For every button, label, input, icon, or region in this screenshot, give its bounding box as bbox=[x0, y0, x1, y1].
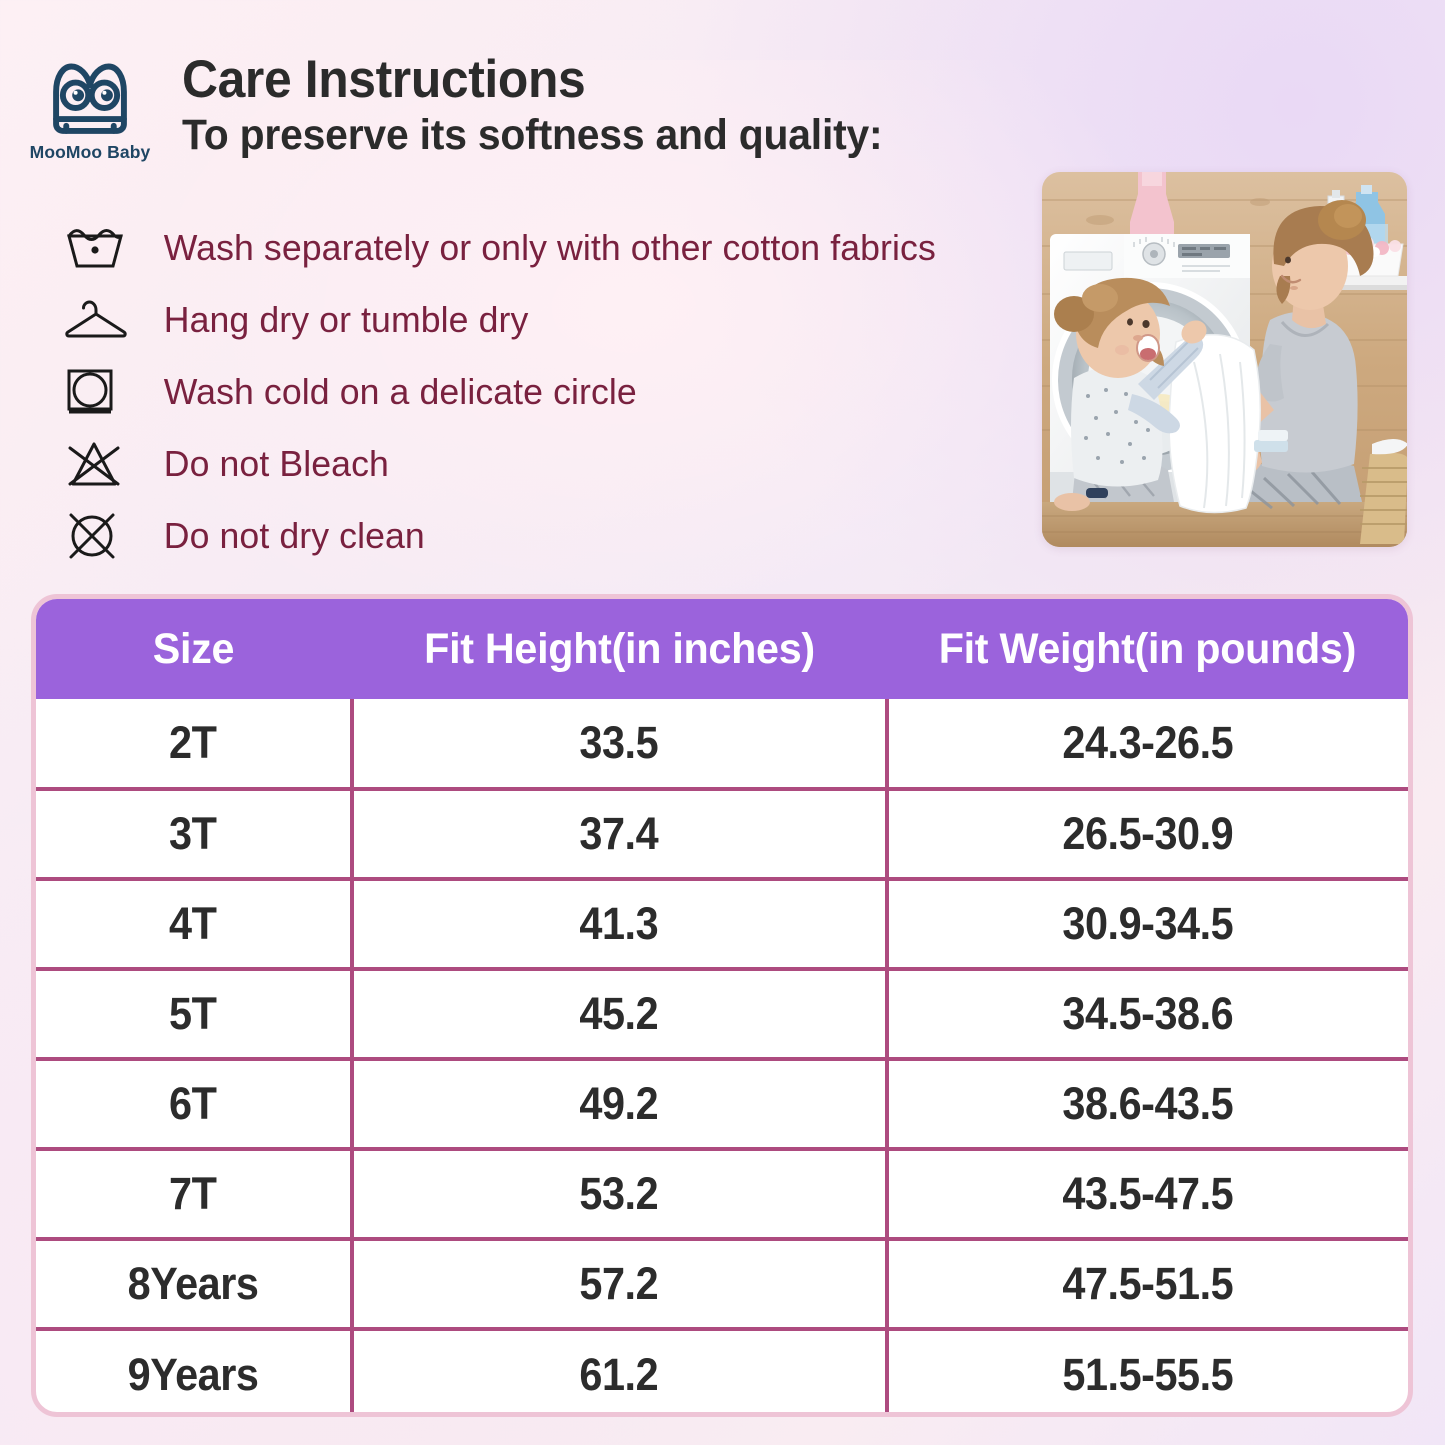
laundry-photo bbox=[1042, 172, 1407, 547]
cell-weight: 26.5-30.9 bbox=[887, 789, 1408, 879]
table-row: 2T 33.5 24.3-26.5 bbox=[36, 699, 1408, 789]
care-item-label: Do not dry clean bbox=[138, 516, 425, 556]
table-header-row: Size Fit Height(in inches) Fit Weight(in… bbox=[36, 599, 1408, 699]
cell-size: 4T bbox=[36, 879, 352, 969]
cell-size: 5T bbox=[36, 969, 352, 1059]
table-row: 5T 45.2 34.5-38.6 bbox=[36, 969, 1408, 1059]
do-not-dry-clean-icon bbox=[60, 508, 138, 564]
table-row: 7T 53.2 43.5-47.5 bbox=[36, 1149, 1408, 1239]
brand-logo: MooMoo Baby bbox=[26, 52, 154, 163]
cell-size: 7T bbox=[36, 1149, 352, 1239]
title-block: Care Instructions To preserve its softne… bbox=[154, 52, 919, 160]
table-row: 9Years 61.2 51.5-55.5 bbox=[36, 1329, 1408, 1417]
care-instructions-list: Wash separately or only with other cotto… bbox=[60, 212, 1050, 572]
cell-height: 49.2 bbox=[352, 1059, 887, 1149]
care-item-label: Hang dry or tumble dry bbox=[138, 300, 528, 340]
table-body: 2T 33.5 24.3-26.5 3T 37.4 26.5-30.9 4T 4… bbox=[36, 699, 1408, 1417]
cell-height: 53.2 bbox=[352, 1149, 887, 1239]
cell-size: 8Years bbox=[36, 1239, 352, 1329]
table-row: 3T 37.4 26.5-30.9 bbox=[36, 789, 1408, 879]
cell-height: 57.2 bbox=[352, 1239, 887, 1329]
cell-height: 37.4 bbox=[352, 789, 887, 879]
table-row: 6T 49.2 38.6-43.5 bbox=[36, 1059, 1408, 1149]
hanger-icon bbox=[60, 292, 138, 348]
cell-size: 9Years bbox=[36, 1329, 352, 1417]
page-title: Care Instructions bbox=[182, 52, 875, 108]
wash-basin-icon bbox=[60, 220, 138, 276]
tumble-dry-icon bbox=[60, 364, 138, 420]
care-item-label: Do not Bleach bbox=[138, 444, 389, 484]
care-item: Hang dry or tumble dry bbox=[60, 284, 1050, 356]
column-header-fit-weight: Fit Weight(in pounds) bbox=[887, 599, 1408, 699]
cell-size: 2T bbox=[36, 699, 352, 789]
column-header-fit-height: Fit Height(in inches) bbox=[352, 599, 887, 699]
cell-weight: 43.5-47.5 bbox=[887, 1149, 1408, 1239]
cell-height: 41.3 bbox=[352, 879, 887, 969]
cell-weight: 51.5-55.5 bbox=[887, 1329, 1408, 1417]
care-item: Do not dry clean bbox=[60, 500, 1050, 572]
size-chart-table: Size Fit Height(in inches) Fit Weight(in… bbox=[31, 594, 1413, 1417]
page-subtitle: To preserve its softness and quality: bbox=[182, 110, 882, 160]
table-row: 4T 41.3 30.9-34.5 bbox=[36, 879, 1408, 969]
care-item-label: Wash separately or only with other cotto… bbox=[138, 228, 936, 268]
care-item: Wash cold on a delicate circle bbox=[60, 356, 1050, 428]
cell-weight: 38.6-43.5 bbox=[887, 1059, 1408, 1149]
cell-height: 33.5 bbox=[352, 699, 887, 789]
column-header-size: Size bbox=[36, 599, 352, 699]
cell-weight: 34.5-38.6 bbox=[887, 969, 1408, 1059]
do-not-bleach-icon bbox=[60, 436, 138, 492]
care-item: Wash separately or only with other cotto… bbox=[60, 212, 1050, 284]
page-header: MooMoo Baby Care Instructions To preserv… bbox=[26, 52, 919, 163]
cell-weight: 30.9-34.5 bbox=[887, 879, 1408, 969]
care-item: Do not Bleach bbox=[60, 428, 1050, 500]
owl-logo-icon bbox=[47, 58, 133, 136]
table-row: 8Years 57.2 47.5-51.5 bbox=[36, 1239, 1408, 1329]
cell-height: 45.2 bbox=[352, 969, 887, 1059]
cell-weight: 24.3-26.5 bbox=[887, 699, 1408, 789]
cell-height: 61.2 bbox=[352, 1329, 887, 1417]
care-item-label: Wash cold on a delicate circle bbox=[138, 372, 637, 412]
cell-weight: 47.5-51.5 bbox=[887, 1239, 1408, 1329]
brand-name: MooMoo Baby bbox=[30, 142, 151, 163]
cell-size: 3T bbox=[36, 789, 352, 879]
cell-size: 6T bbox=[36, 1059, 352, 1149]
